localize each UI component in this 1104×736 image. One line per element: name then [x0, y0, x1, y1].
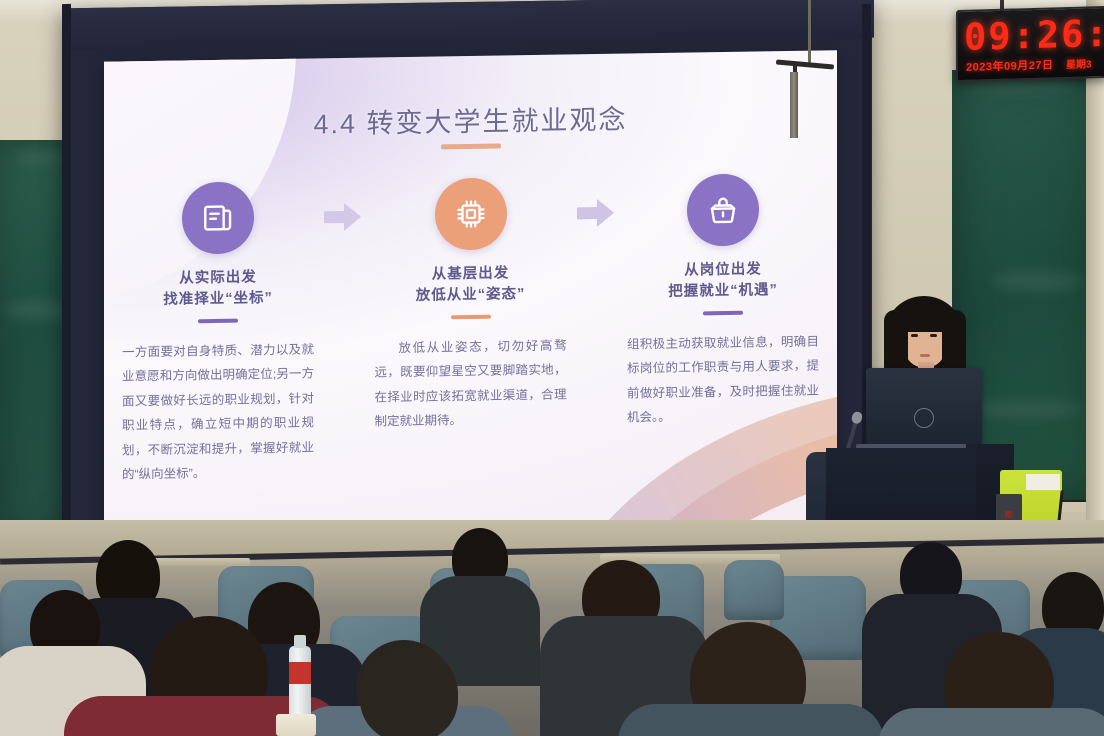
digital-wall-clock: 09:26: 2023年09月27日 星期3 [956, 6, 1104, 82]
column-1-heading: 从实际出发 找准择业“坐标” [120, 266, 316, 311]
slide-column-2: 从基层出发 放低从业“姿态” 放低从业姿态，切勿好高骛远，既要仰望星空又要脚踏实… [373, 176, 569, 519]
screen-edge-left [62, 4, 71, 556]
column-3-heading: 从岗位出发 把握就业“机遇” [625, 258, 821, 303]
audience-shoulders [878, 708, 1104, 736]
clock-time: 09:26: [964, 12, 1104, 59]
audience-head [360, 646, 458, 736]
lecture-hall-photo: 4.4 转变大学生就业观念 从实际出发 找准择 [0, 0, 1104, 736]
wall-pillar [1086, 0, 1104, 560]
slide-column-3: 从岗位出发 把握就业“机遇” 组积极主动获取就业信息，明确目标岗位的工作职责与用… [625, 172, 821, 515]
column-2-heading: 从基层出发 放低从业“姿态” [373, 262, 569, 307]
column-1-heading-line2: 找准择业“坐标” [120, 287, 316, 311]
slide-title-underline [441, 144, 501, 150]
column-3-heading-line2: 把握就业“机遇” [625, 280, 821, 304]
column-2-body: 放低从业姿态，切勿好高骛远，既要仰望星空又要脚踏实地，在择业时应该拓宽就业渠道，… [373, 333, 569, 434]
slide-columns: 从实际出发 找准择业“坐标” 一方面要对自身特质、潜力以及就业意愿和方向做出明确… [120, 172, 821, 523]
column-2-heading-line2: 放低从业“姿态” [373, 283, 569, 307]
laptop-logo [914, 408, 934, 428]
briefcase-icon [687, 173, 759, 246]
paper-cup [276, 714, 316, 736]
water-bottle [289, 646, 311, 724]
document-icon [182, 181, 254, 254]
arrow-right-icon [575, 196, 617, 231]
column-1-underline [198, 319, 238, 324]
ceiling-cable [808, 0, 811, 66]
clock-weekday: 星期3 [1066, 55, 1092, 71]
clock-date: 2023年09月27日 [966, 56, 1053, 74]
column-2-underline [451, 315, 491, 320]
presenter-laptop [866, 368, 982, 446]
slide-title: 4.4 转变大学生就业观念 [104, 94, 837, 145]
arrow-right-icon [322, 200, 364, 235]
audience-area [0, 520, 1104, 736]
wall-speaker-column [790, 72, 798, 138]
column-1-body: 一方面要对自身特质、潜力以及就业意愿和方向做出明确定位;另一方面又要做好长远的职… [120, 337, 316, 486]
column-3-body: 组积极主动获取就业信息，明确目标岗位的工作职责与用人要求，提前做好职业准备，及时… [625, 330, 821, 431]
chip-icon [435, 177, 507, 250]
white-paper-sheet [1026, 474, 1060, 490]
column-3-underline [703, 311, 743, 316]
slide-column-1: 从实际出发 找准择业“坐标” 一方面要对自身特质、潜力以及就业意愿和方向做出明确… [120, 180, 316, 523]
presentation-slide: 4.4 转变大学生就业观念 从实际出发 找准择 [104, 50, 837, 536]
audience-shoulders [618, 704, 884, 736]
